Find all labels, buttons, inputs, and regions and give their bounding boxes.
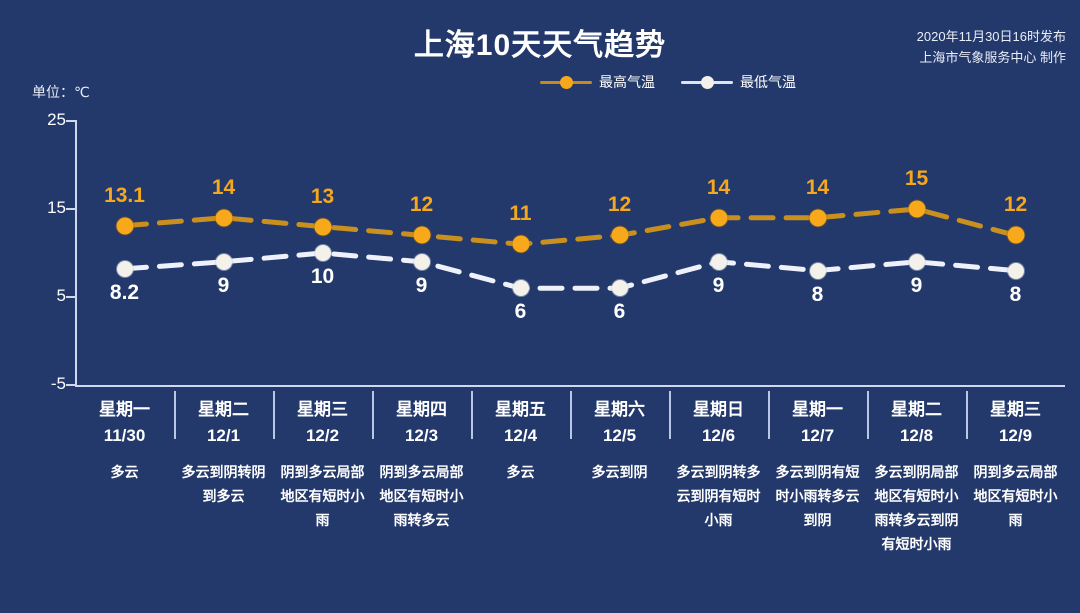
data-label-lo: 8 — [1010, 283, 1022, 307]
legend-label-high: 最高气温 — [599, 72, 655, 92]
data-label-hi: 13 — [311, 185, 334, 209]
day-weather-description: 多云到阴转阴到多云 — [182, 460, 266, 508]
data-label-lo: 8 — [812, 283, 824, 307]
data-point-hi — [1007, 227, 1024, 244]
legend-item-low: 最低气温 — [681, 72, 796, 92]
day-date: 12/7 — [801, 423, 834, 449]
data-label-lo: 6 — [515, 300, 527, 324]
day-weather-description: 多云到阴转多云到阴有短时小雨 — [677, 460, 761, 532]
data-point-hi — [512, 236, 529, 253]
column-divider — [570, 391, 572, 439]
data-point-hi — [710, 209, 727, 226]
orange-dot-icon — [540, 76, 592, 88]
day-weekday: 星期一 — [792, 398, 843, 423]
day-weather-description: 多云 — [83, 460, 167, 484]
day-weather-description: 阴到多云局部地区有短时小雨转多云 — [380, 460, 464, 532]
day-date: 12/1 — [207, 423, 240, 449]
day-date: 12/5 — [603, 423, 636, 449]
legend-label-low: 最低气温 — [740, 72, 796, 92]
day-column[interactable]: 星期四12/3阴到多云局部地区有短时小雨转多云 — [372, 389, 471, 613]
data-point-hi — [314, 218, 331, 235]
day-weather-description: 多云到阴 — [578, 460, 662, 484]
column-divider — [372, 391, 374, 439]
data-point-hi — [215, 209, 232, 226]
day-date: 11/30 — [104, 423, 146, 449]
data-label-hi: 15 — [905, 167, 928, 191]
y-axis-tick-label: 5 — [16, 286, 66, 306]
data-point-hi — [611, 227, 628, 244]
data-label-hi: 14 — [212, 176, 235, 200]
publisher-name: 上海市气象服务中心 制作 — [917, 47, 1066, 68]
day-date: 12/8 — [900, 423, 933, 449]
day-weather-description: 多云到阴局部地区有短时小雨转多云到阴有短时小雨 — [875, 460, 959, 556]
day-weekday: 星期五 — [495, 398, 546, 423]
column-divider — [966, 391, 968, 439]
data-label-lo: 9 — [911, 274, 923, 298]
day-date: 12/2 — [306, 423, 339, 449]
day-column[interactable]: 星期五12/4多云 — [471, 389, 570, 613]
data-label-hi: 13.1 — [104, 184, 145, 208]
day-weekday: 星期一 — [99, 398, 150, 423]
data-label-lo: 9 — [416, 274, 428, 298]
day-column[interactable]: 星期六12/5多云到阴 — [570, 389, 669, 613]
day-date: 12/3 — [405, 423, 438, 449]
chart-legend: 最高气温 最低气温 — [540, 72, 796, 92]
data-label-hi: 14 — [806, 176, 829, 200]
data-label-hi: 12 — [410, 193, 433, 217]
weather-trend-chart: 上海10天天气趋势 2020年11月30日16时发布 上海市气象服务中心 制作 … — [0, 0, 1080, 613]
data-label-lo: 6 — [614, 300, 626, 324]
day-column[interactable]: 星期一12/7多云到阴有短时小雨转多云到阴 — [768, 389, 867, 613]
data-point-lo — [711, 254, 727, 270]
column-divider — [273, 391, 275, 439]
day-weather-description: 阴到多云局部地区有短时小雨 — [281, 460, 365, 532]
data-point-lo — [414, 254, 430, 270]
day-column[interactable]: 星期三12/9阴到多云局部地区有短时小雨 — [966, 389, 1065, 613]
y-axis-tick-label: 25 — [16, 110, 66, 130]
day-columns: 星期一11/30多云星期二12/1多云到阴转阴到多云星期三12/2阴到多云局部地… — [75, 389, 1065, 613]
column-divider — [471, 391, 473, 439]
data-point-lo — [1008, 263, 1024, 279]
legend-item-high: 最高气温 — [540, 72, 655, 92]
column-divider — [768, 391, 770, 439]
column-divider — [174, 391, 176, 439]
data-point-hi — [116, 217, 133, 234]
y-axis-tick — [66, 208, 76, 210]
white-dot-icon — [681, 76, 733, 88]
day-column[interactable]: 星期一11/30多云 — [75, 389, 174, 613]
day-date: 12/6 — [702, 423, 735, 449]
day-weekday: 星期三 — [990, 398, 1041, 423]
y-axis-tick-label: 15 — [16, 198, 66, 218]
y-axis-tick — [66, 120, 76, 122]
data-label-lo: 8.2 — [110, 281, 139, 305]
data-label-hi: 14 — [707, 176, 730, 200]
data-label-lo: 9 — [218, 274, 230, 298]
column-divider — [669, 391, 671, 439]
day-weather-description: 多云 — [479, 460, 563, 484]
y-axis-tick-label: -5 — [16, 374, 66, 394]
publish-time: 2020年11月30日16时发布 — [917, 26, 1066, 47]
data-point-lo — [216, 254, 232, 270]
y-axis-line — [75, 120, 77, 386]
day-column[interactable]: 星期二12/8多云到阴局部地区有短时小雨转多云到阴有短时小雨 — [867, 389, 966, 613]
publish-info: 2020年11月30日16时发布 上海市气象服务中心 制作 — [917, 26, 1066, 69]
data-point-lo — [513, 280, 529, 296]
day-column[interactable]: 星期二12/1多云到阴转阴到多云 — [174, 389, 273, 613]
data-point-lo — [117, 261, 133, 277]
data-point-hi — [809, 209, 826, 226]
y-axis-tick — [66, 296, 76, 298]
day-weekday: 星期四 — [396, 398, 447, 423]
data-label-hi: 12 — [1004, 193, 1027, 217]
day-weekday: 星期三 — [297, 398, 348, 423]
x-axis-line — [75, 385, 1065, 387]
day-weather-description: 阴到多云局部地区有短时小雨 — [974, 460, 1058, 532]
day-weekday: 星期二 — [198, 398, 249, 423]
day-column[interactable]: 星期三12/2阴到多云局部地区有短时小雨 — [273, 389, 372, 613]
data-point-hi — [908, 201, 925, 218]
day-weekday: 星期日 — [693, 398, 744, 423]
data-label-lo: 9 — [713, 274, 725, 298]
day-weather-description: 多云到阴有短时小雨转多云到阴 — [776, 460, 860, 532]
data-point-lo — [810, 263, 826, 279]
data-point-lo — [612, 280, 628, 296]
data-point-lo — [315, 245, 331, 261]
data-point-lo — [909, 254, 925, 270]
y-axis-tick — [66, 384, 76, 386]
data-label-lo: 10 — [311, 265, 334, 289]
day-column[interactable]: 星期日12/6多云到阴转多云到阴有短时小雨 — [669, 389, 768, 613]
data-point-hi — [413, 227, 430, 244]
day-date: 12/9 — [999, 423, 1032, 449]
data-label-hi: 12 — [608, 193, 631, 217]
y-axis-unit-label: 单位：℃ — [32, 82, 90, 102]
data-label-hi: 11 — [509, 202, 531, 226]
day-weekday: 星期六 — [594, 398, 645, 423]
day-weekday: 星期二 — [891, 398, 942, 423]
day-date: 12/4 — [504, 423, 537, 449]
column-divider — [867, 391, 869, 439]
